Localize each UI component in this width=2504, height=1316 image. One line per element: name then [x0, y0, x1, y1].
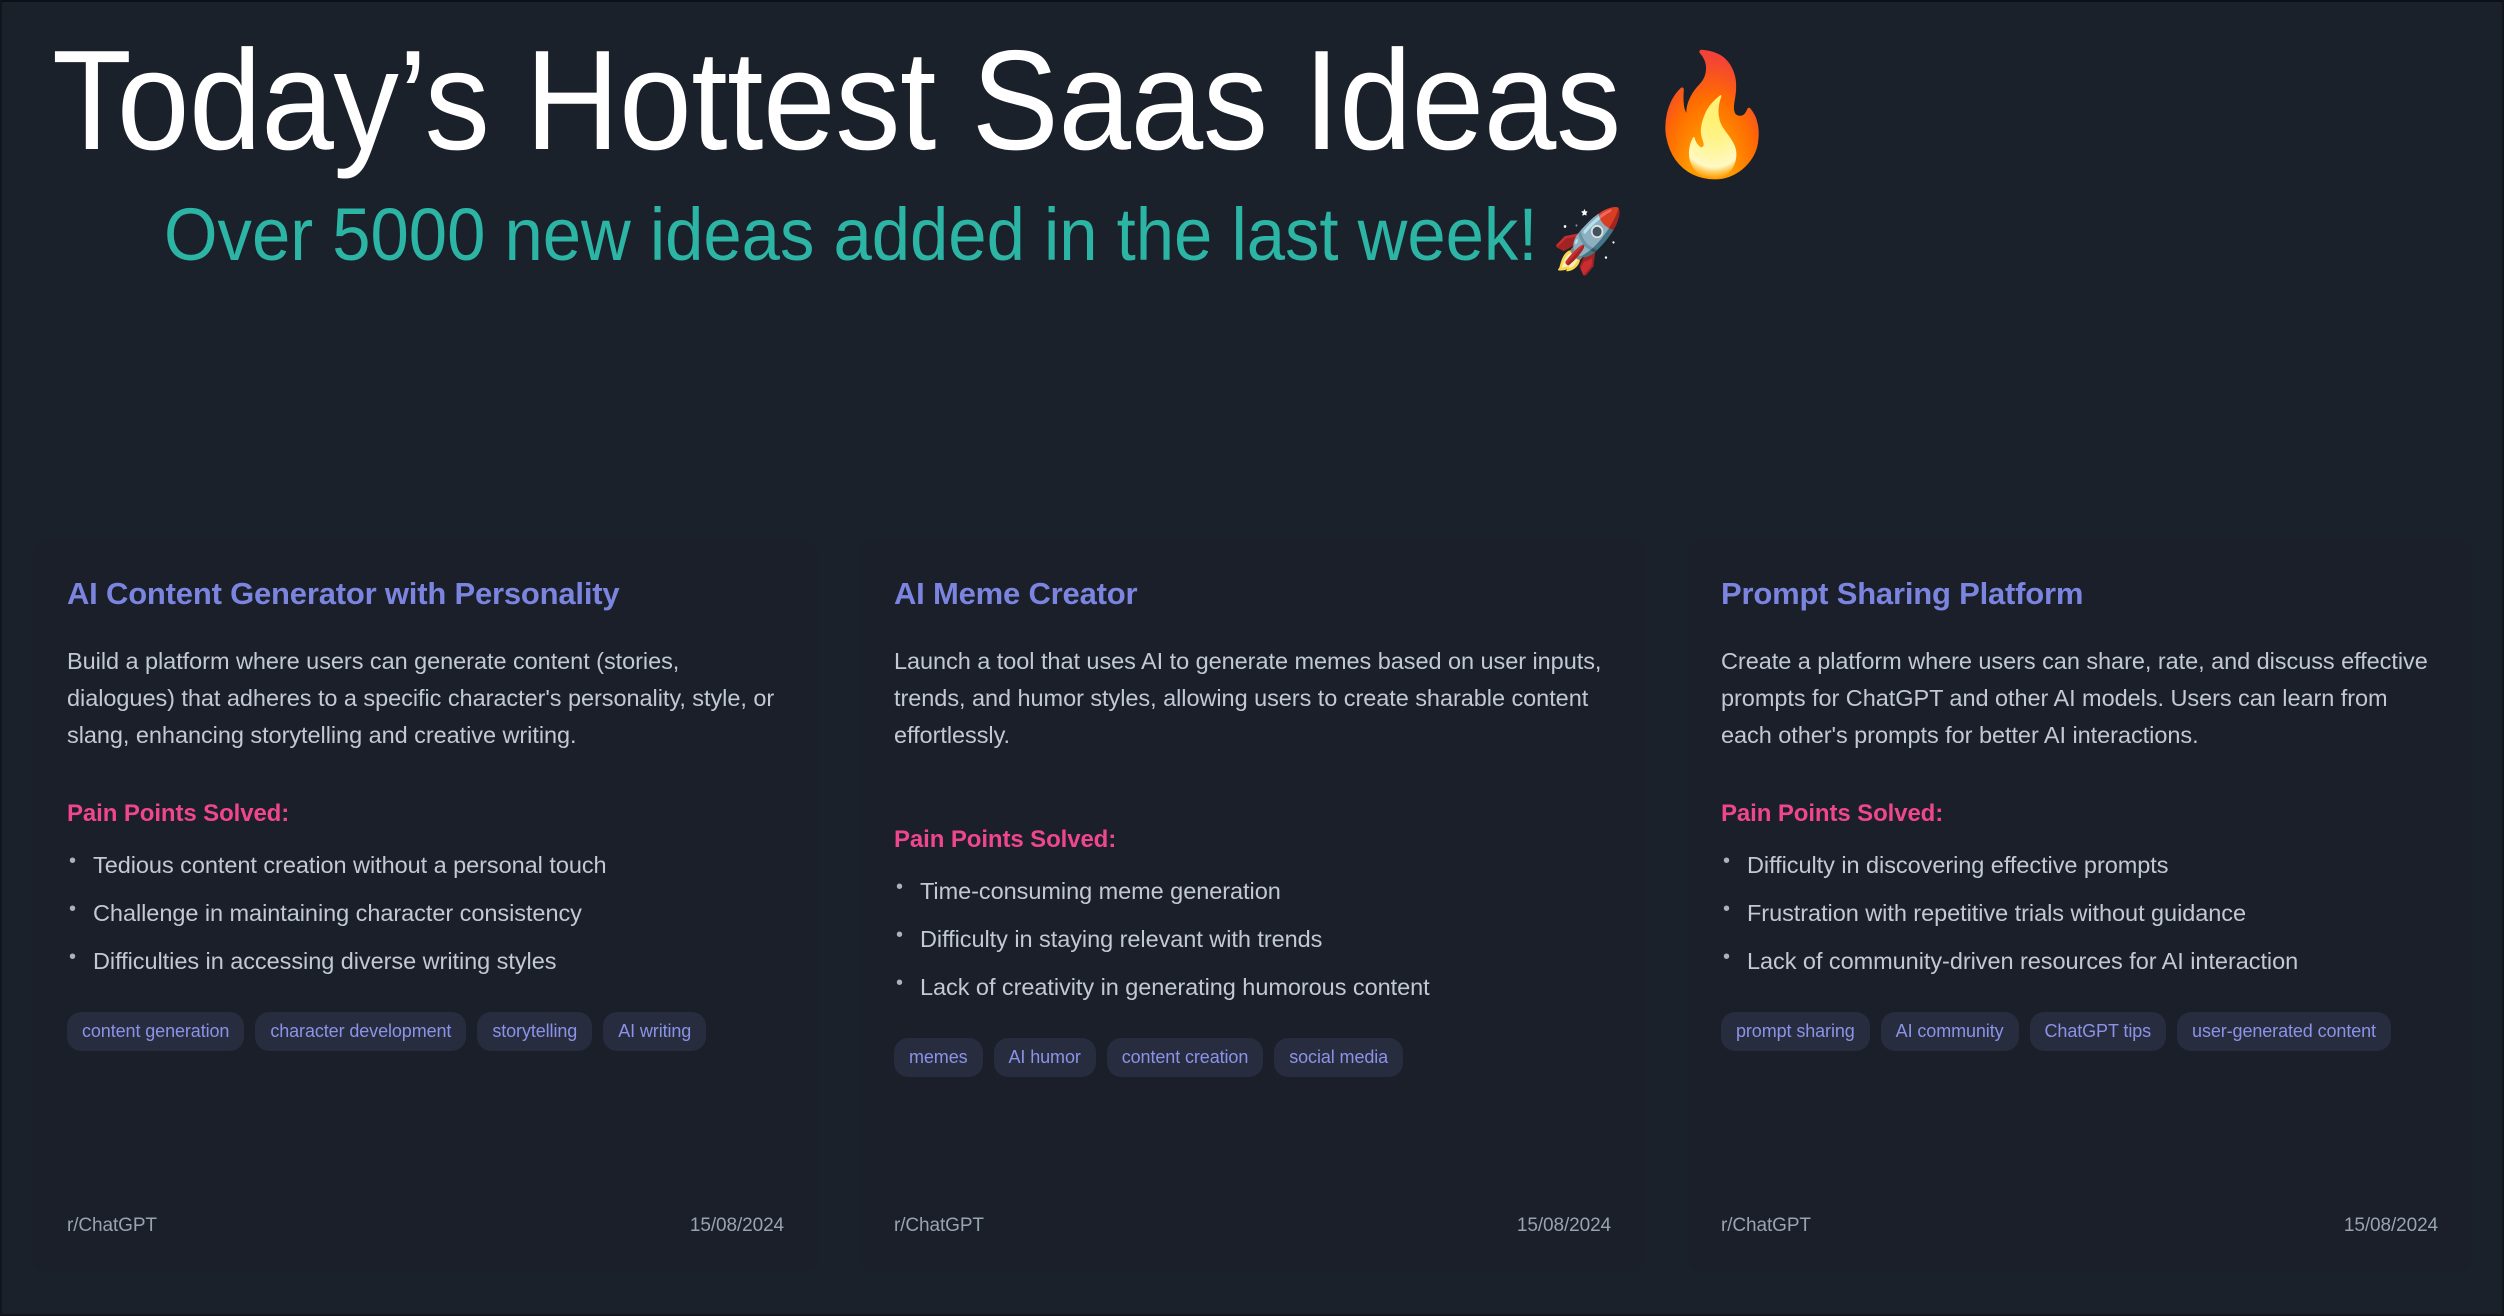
- pain-point-item: Lack of community-driven resources for A…: [1721, 946, 2438, 976]
- idea-card[interactable]: AI Meme Creator Launch a tool that uses …: [860, 538, 1645, 1273]
- source-subreddit[interactable]: r/ChatGPT: [894, 1215, 984, 1237]
- tag-chip[interactable]: content generation: [67, 1012, 244, 1051]
- idea-card-description: Create a platform where users can share,…: [1721, 643, 2438, 754]
- tag-chip[interactable]: AI humor: [994, 1038, 1096, 1077]
- idea-card-title: AI Content Generator with Personality: [67, 576, 784, 613]
- tag-list: prompt sharing AI community ChatGPT tips…: [1721, 1012, 2438, 1051]
- post-date: 15/08/2024: [2344, 1215, 2438, 1237]
- pain-points-list: Time-consuming meme generation Difficult…: [894, 876, 1611, 1020]
- pain-points-heading: Pain Points Solved:: [67, 800, 784, 828]
- idea-card[interactable]: AI Content Generator with Personality Bu…: [33, 538, 818, 1273]
- tag-chip[interactable]: AI writing: [603, 1012, 706, 1051]
- pain-point-item: Difficulty in discovering effective prom…: [1721, 850, 2438, 880]
- tag-chip[interactable]: social media: [1274, 1038, 1403, 1077]
- pain-point-item: Lack of creativity in generating humorou…: [894, 972, 1611, 1002]
- idea-card-description: Build a platform where users can generat…: [67, 643, 784, 754]
- fire-emoji: 🔥: [1645, 49, 1780, 181]
- rocket-emoji: 🚀: [1552, 207, 1624, 276]
- idea-card[interactable]: Prompt Sharing Platform Create a platfor…: [1687, 538, 2472, 1273]
- post-date: 15/08/2024: [690, 1215, 784, 1237]
- tag-chip[interactable]: AI community: [1881, 1012, 2019, 1051]
- pain-point-item: Tedious content creation without a perso…: [67, 850, 784, 880]
- page-title: Today’s Hottest Saas Ideas🔥: [52, 0, 2308, 174]
- idea-card-title: Prompt Sharing Platform: [1721, 576, 2438, 613]
- pain-points-list: Tedious content creation without a perso…: [67, 850, 784, 994]
- idea-card-list: AI Content Generator with Personality Bu…: [33, 538, 2472, 1273]
- idea-card-title: AI Meme Creator: [894, 576, 1611, 613]
- tag-chip[interactable]: storytelling: [477, 1012, 592, 1051]
- tag-chip[interactable]: content creation: [1107, 1038, 1263, 1077]
- idea-card-footer: r/ChatGPT 15/08/2024: [67, 1181, 784, 1273]
- pain-points-heading: Pain Points Solved:: [894, 826, 1611, 854]
- pain-point-item: Challenge in maintaining character consi…: [67, 898, 784, 928]
- source-subreddit[interactable]: r/ChatGPT: [67, 1215, 157, 1237]
- pain-points-heading: Pain Points Solved:: [1721, 800, 2438, 828]
- pain-point-item: Time-consuming meme generation: [894, 876, 1611, 906]
- tag-chip[interactable]: prompt sharing: [1721, 1012, 1870, 1051]
- page-root: Today’s Hottest Saas Ideas🔥 Over 5000 ne…: [0, 0, 2504, 1316]
- pain-point-item: Difficulty in staying relevant with tren…: [894, 924, 1611, 954]
- idea-card-footer: r/ChatGPT 15/08/2024: [1721, 1181, 2438, 1273]
- idea-card-footer: r/ChatGPT 15/08/2024: [894, 1181, 1611, 1273]
- tag-list: memes AI humor content creation social m…: [894, 1038, 1611, 1077]
- tag-chip[interactable]: user-generated content: [2177, 1012, 2391, 1051]
- source-subreddit[interactable]: r/ChatGPT: [1721, 1215, 1811, 1237]
- pain-points-list: Difficulty in discovering effective prom…: [1721, 850, 2438, 994]
- page-title-text: Today’s Hottest Saas Ideas: [52, 21, 1621, 180]
- post-date: 15/08/2024: [1517, 1215, 1611, 1237]
- pain-point-item: Frustration with repetitive trials witho…: [1721, 898, 2438, 928]
- pain-point-item: Difficulties in accessing diverse writin…: [67, 946, 784, 976]
- page-subtitle: Over 5000 new ideas added in the last we…: [164, 198, 2340, 273]
- tag-chip[interactable]: memes: [894, 1038, 983, 1077]
- idea-card-description: Launch a tool that uses AI to generate m…: [894, 643, 1611, 754]
- page-subtitle-text: Over 5000 new ideas added in the last we…: [164, 193, 1537, 276]
- page-header: Today’s Hottest Saas Ideas🔥 Over 5000 ne…: [0, 0, 2504, 273]
- tag-list: content generation character development…: [67, 1012, 784, 1051]
- tag-chip[interactable]: ChatGPT tips: [2030, 1012, 2167, 1051]
- tag-chip[interactable]: character development: [255, 1012, 466, 1051]
